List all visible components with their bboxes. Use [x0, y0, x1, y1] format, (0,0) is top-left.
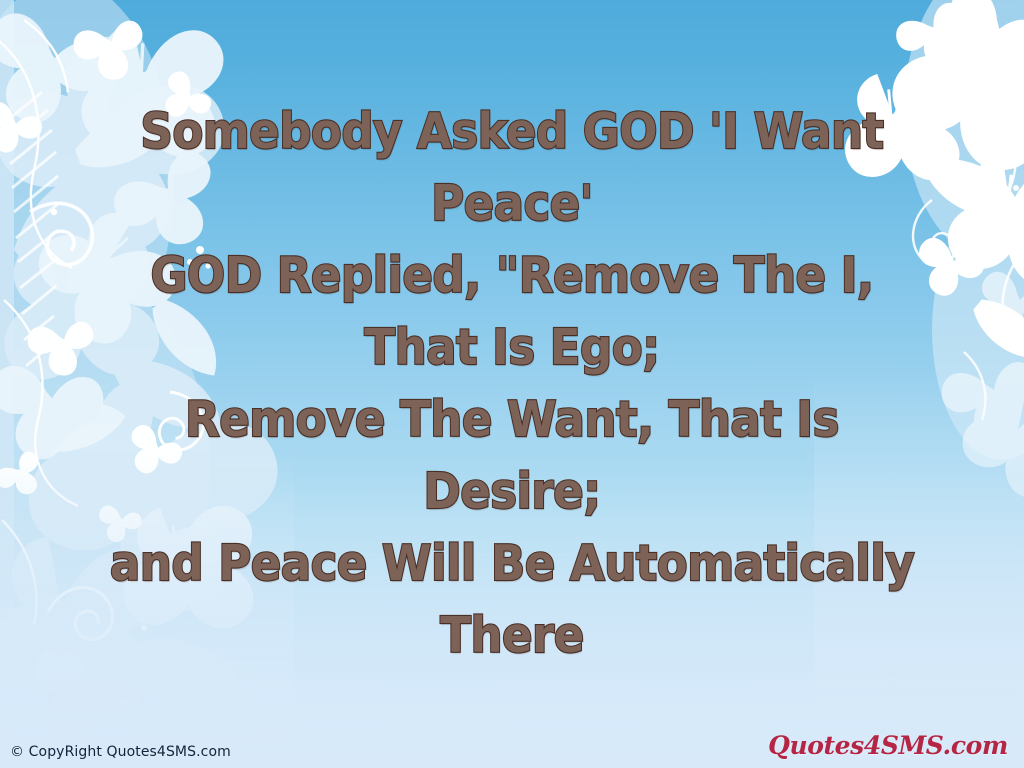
quote-line-8: There — [65, 600, 959, 672]
quote-image-canvas: Somebody Asked GOD 'I Want Peace' GOD Re… — [0, 0, 1024, 768]
copyright-notice: © CopyRight Quotes4SMS.com — [10, 744, 231, 760]
quote-line-4: That Is Ego; — [65, 312, 959, 384]
site-watermark: Quotes4SMS.com — [768, 731, 1008, 760]
quote-line-1: Somebody Asked GOD 'I Want — [65, 96, 959, 168]
quote-line-7: and Peace Will Be Automatically — [65, 528, 959, 600]
quote-line-2: Peace' — [65, 168, 959, 240]
quote-line-5: Remove The Want, That Is — [65, 384, 959, 456]
quote-line-6: Desire; — [65, 456, 959, 528]
quote-text-block: Somebody Asked GOD 'I Want Peace' GOD Re… — [0, 96, 1024, 672]
quote-line-3: GOD Replied, "Remove The I, — [65, 240, 959, 312]
